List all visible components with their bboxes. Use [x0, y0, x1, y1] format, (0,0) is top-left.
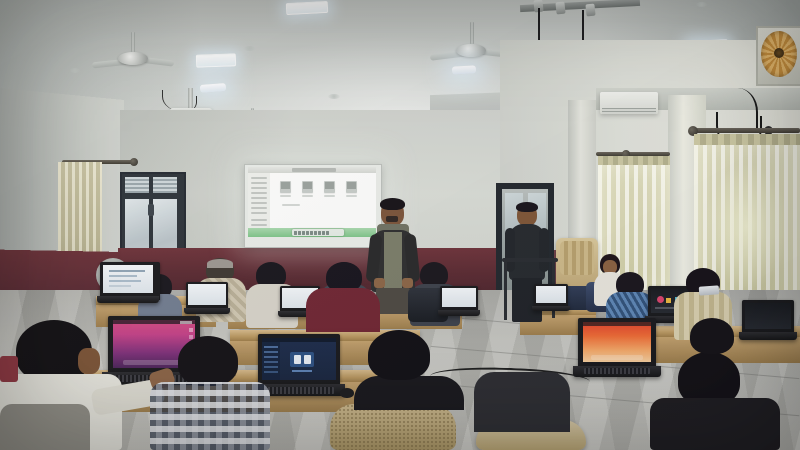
sidebar-item[interactable] [251, 197, 267, 199]
dock-icon[interactable] [298, 231, 301, 235]
laptop-screen [188, 284, 226, 305]
laptop-base [97, 296, 159, 303]
ceiling-fixture-dot [328, 94, 340, 99]
file-tile[interactable] [346, 181, 357, 193]
ceiling-fan-rod [131, 32, 135, 52]
laptop-base [184, 308, 230, 314]
laptop-screen-dock [123, 360, 185, 365]
chair-left-edge[interactable] [0, 404, 90, 450]
laptop-screen [103, 265, 153, 293]
projected-desktop [248, 167, 376, 237]
presenter-lower-body [376, 288, 410, 314]
chair-foreground[interactable] [330, 404, 456, 450]
ceiling-fan-hub [456, 44, 486, 57]
dock-icon[interactable] [306, 231, 309, 235]
file-label [302, 195, 313, 197]
standing-attendee-hair [516, 202, 538, 212]
desktop-dock[interactable] [292, 229, 344, 236]
laptop-base [438, 310, 480, 316]
attendee-head-center-foreground [368, 330, 430, 380]
sidebar-item[interactable] [251, 192, 267, 194]
attendee-back-dark [354, 376, 464, 410]
dock-icon[interactable] [314, 231, 317, 235]
sidebar-item[interactable] [251, 177, 267, 179]
laptop-base [532, 306, 570, 311]
attendee-torso-foreground [650, 398, 780, 450]
laptop-keyboard[interactable] [264, 387, 334, 394]
presenter-hand-left [374, 278, 385, 288]
attendee-torso-plaid [150, 382, 270, 450]
computer-mouse[interactable] [340, 388, 354, 398]
rail-post [504, 260, 507, 320]
sidebar-item[interactable] [251, 202, 267, 204]
strip-light [452, 65, 476, 74]
presenter-hand-right [402, 278, 413, 288]
ac-vent [602, 108, 656, 114]
rail-lamp [585, 4, 595, 17]
classroom-workshop-photo [0, 0, 800, 450]
file-label [282, 204, 300, 206]
wall-dado-back [118, 248, 514, 290]
window-title-text [292, 168, 336, 172]
attendee-head [690, 318, 734, 354]
file-label [346, 195, 357, 197]
presenter-shirt [384, 232, 402, 288]
window-louvers [125, 177, 149, 193]
dock-icon[interactable] [318, 231, 321, 235]
sidebar-item[interactable] [251, 187, 267, 189]
sidebar-item[interactable] [251, 224, 267, 226]
laptop-base [739, 332, 797, 340]
presenter-hair [380, 198, 405, 210]
bag-red [0, 356, 18, 382]
laptop-screen-dock [591, 355, 643, 359]
attendee-face-left [78, 348, 100, 374]
sidebar-item[interactable] [251, 207, 267, 209]
dock-icon[interactable] [322, 231, 325, 235]
attendee-head-plaid [178, 336, 238, 386]
curtain-pelmet [694, 134, 800, 145]
standing-attendee-arm [539, 228, 549, 272]
exhaust-fan-hub [774, 48, 784, 58]
laptop-screen [745, 303, 791, 329]
ceiling-fan-hub [118, 52, 148, 65]
curtain-rod-finial [130, 158, 138, 166]
curtain-rod [690, 128, 800, 133]
file-tile[interactable] [280, 181, 291, 193]
armchair-backrest [560, 241, 594, 275]
sidebar-item[interactable] [251, 182, 267, 184]
dock-icon[interactable] [302, 231, 305, 235]
rail-bar [502, 258, 558, 262]
curtain-pelmet [598, 156, 670, 165]
file-tile[interactable] [302, 181, 313, 193]
dock-icon[interactable] [310, 231, 313, 235]
dock-icon[interactable] [294, 231, 297, 235]
laptop-screen [262, 338, 336, 380]
ceiling-fan-rod [470, 22, 474, 44]
laptop-screen [583, 322, 651, 362]
smartphone[interactable] [699, 285, 720, 295]
attendee-back-right-foreground [474, 372, 570, 432]
laptop-screen [536, 286, 566, 303]
sidebar-item[interactable] [251, 219, 267, 221]
window-handle[interactable] [148, 204, 154, 216]
file-label [280, 195, 291, 197]
attendee-hair-grey [207, 259, 233, 268]
ceiling-fixture-dot [696, 2, 707, 7]
window-louvers [153, 177, 177, 193]
attendee-torso-maroon [306, 288, 380, 332]
file-tile[interactable] [324, 181, 335, 193]
dock-icon[interactable] [326, 231, 329, 235]
ceiling-fixture-dot [70, 68, 80, 73]
file-label [324, 195, 335, 197]
panel-light [196, 53, 236, 67]
ceiling-fixture-dot [244, 46, 255, 51]
sidebar-item[interactable] [251, 212, 267, 214]
laptop-screen [442, 288, 476, 307]
presenter-beard [386, 216, 398, 222]
laptop-keyboard[interactable] [584, 368, 650, 374]
panel-light [286, 1, 329, 15]
